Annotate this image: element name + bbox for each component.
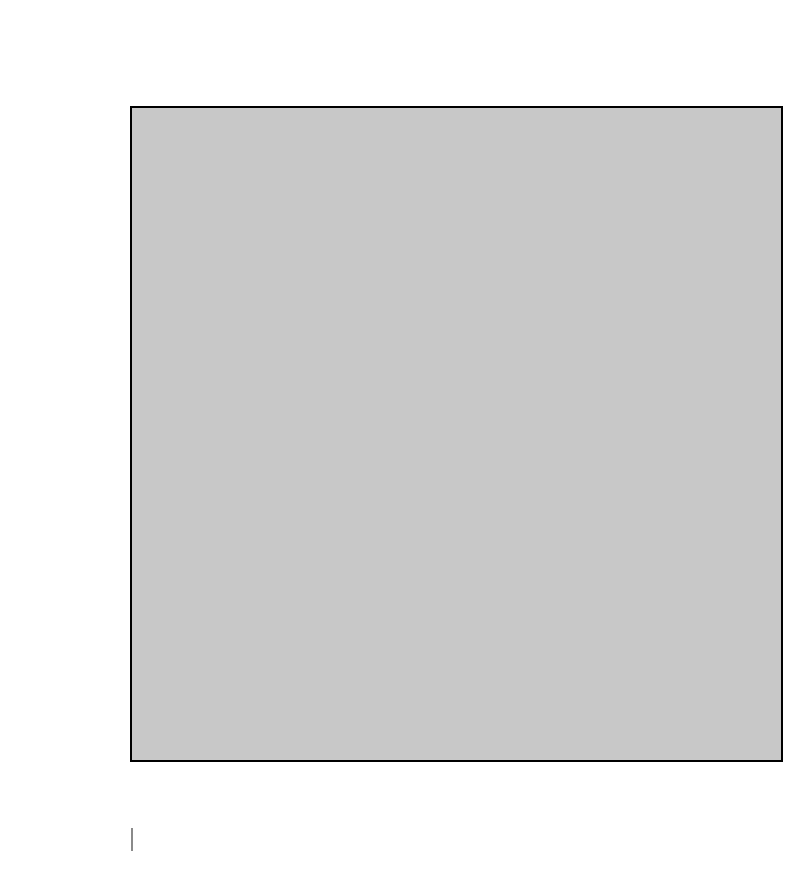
heatmap-field (132, 108, 781, 760)
figure-root (0, 0, 799, 872)
colorbar-swatches (131, 828, 133, 851)
hovmoller-plot-area (130, 106, 783, 762)
